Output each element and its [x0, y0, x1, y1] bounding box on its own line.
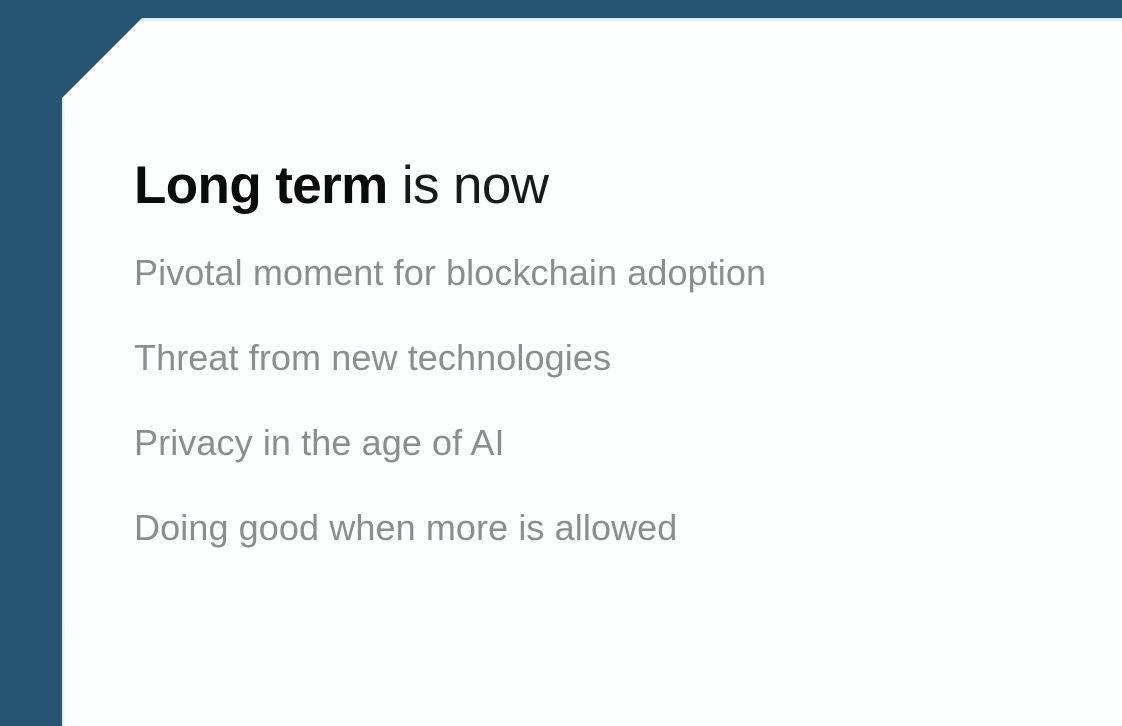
presentation-slide: Long term is now Pivotal moment for bloc… [0, 0, 1122, 726]
bullet-item: Threat from new technologies [134, 335, 1034, 420]
slide-title: Long term is now [134, 154, 548, 218]
slide-title-emphasis: Long term [134, 156, 388, 215]
bullet-item: Pivotal moment for blockchain adoption [134, 250, 1034, 335]
slide-bullet-list: Pivotal moment for blockchain adoption T… [134, 250, 1034, 590]
slide-content: Long term is now Pivotal moment for bloc… [0, 0, 1122, 726]
bullet-item: Doing good when more is allowed [134, 505, 1034, 590]
bullet-item: Privacy in the age of AI [134, 420, 1034, 505]
slide-title-rest: is now [388, 156, 549, 215]
